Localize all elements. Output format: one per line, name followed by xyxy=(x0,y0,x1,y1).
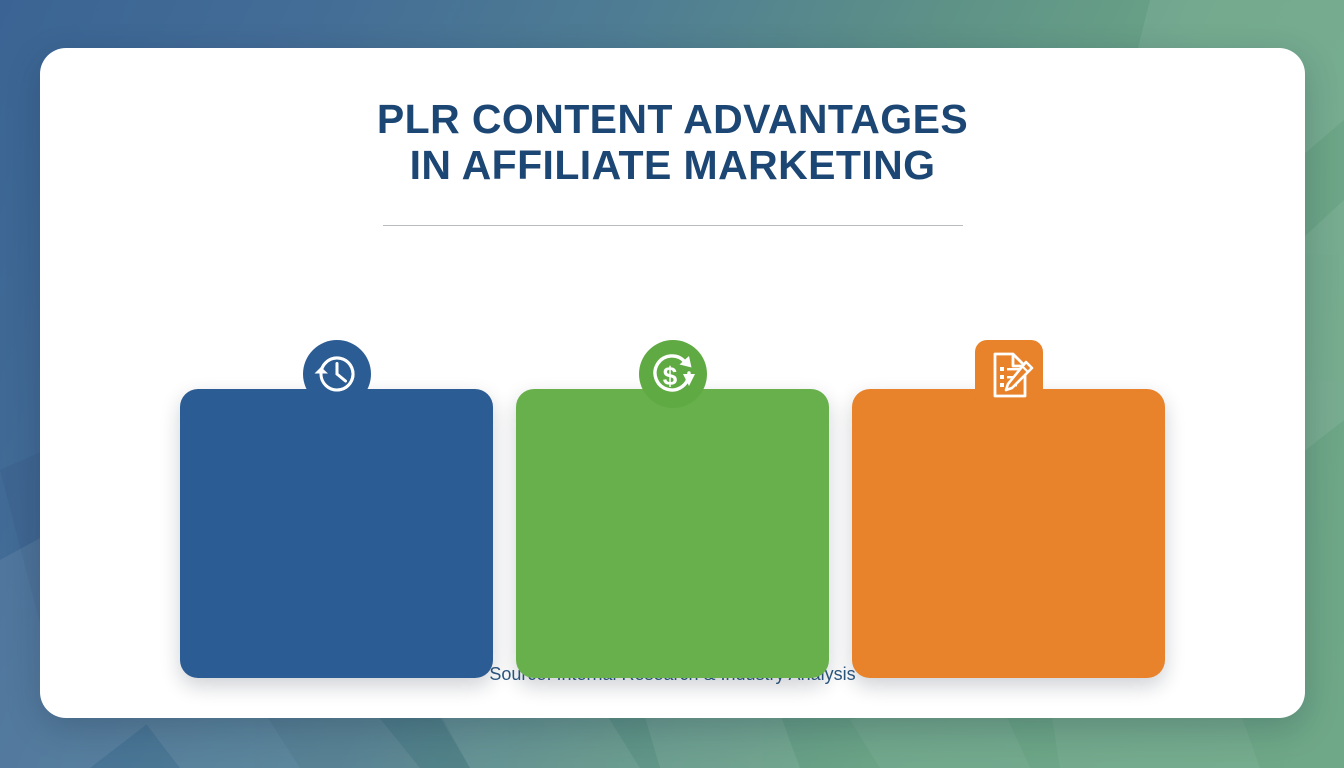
clock-arrow-icon xyxy=(303,340,371,408)
page-title-line-1: PLR CONTENT ADVANTAGES xyxy=(40,97,1305,143)
title-block: PLR CONTENT ADVANTAGES IN AFFILIATE MARK… xyxy=(40,48,1305,226)
document-pencil-icon xyxy=(975,340,1043,408)
title-divider xyxy=(383,225,963,226)
card-body-cost-efficiency xyxy=(516,389,829,678)
svg-text:$: $ xyxy=(662,361,677,391)
card-body-customization-flexibility xyxy=(852,389,1165,678)
dollar-refresh-icon: $ xyxy=(639,340,707,408)
slide-canvas: PLR CONTENT ADVANTAGES IN AFFILIATE MARK… xyxy=(0,0,1344,768)
page-title-line-2: IN AFFILIATE MARKETING xyxy=(40,143,1305,189)
card-body-time-savings xyxy=(180,389,493,678)
content-panel: PLR CONTENT ADVANTAGES IN AFFILIATE MARK… xyxy=(40,48,1305,718)
